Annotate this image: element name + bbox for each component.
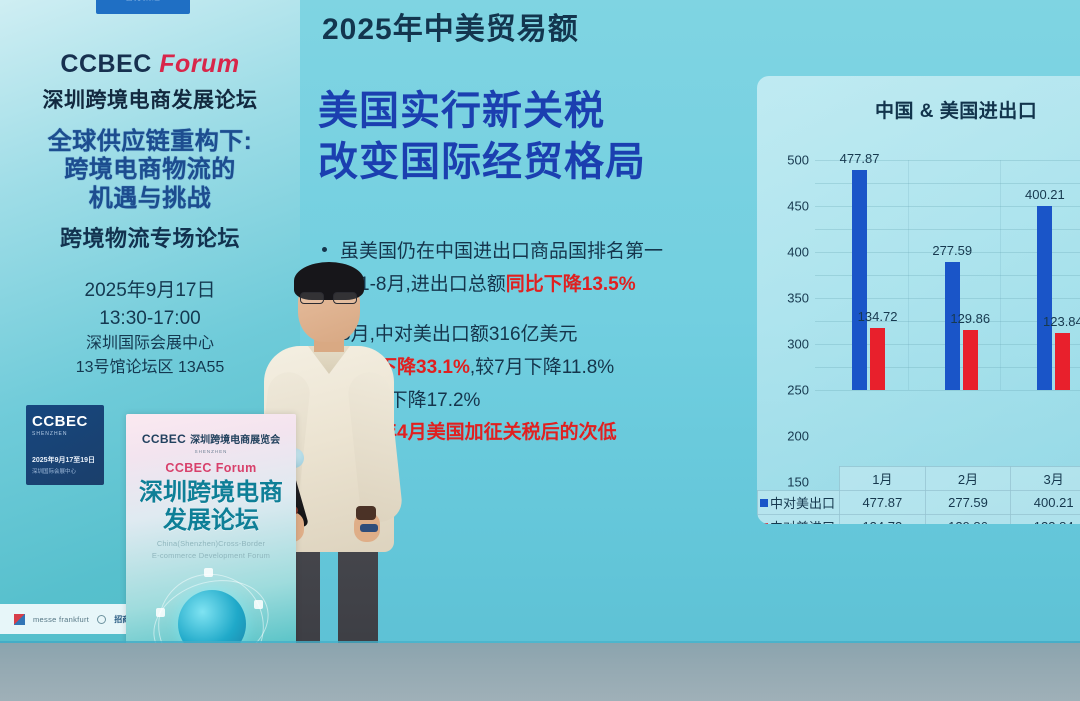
series-swatch-export-icon (760, 499, 768, 507)
banner-brand-ccbec: CCBEC (60, 50, 151, 78)
sponsor-name-1: messe frankfurt (33, 615, 89, 624)
podium-english-line-2: E-commerce Development Forum (126, 550, 296, 562)
cell-export-1: 277.59 (925, 491, 1011, 515)
chart-plot-area: 500450400350300250200150100500477.87134.… (815, 160, 1080, 390)
table-col-header-0: 1月 (840, 467, 926, 491)
table-col-header-2: 3月 (1011, 467, 1080, 491)
cell-import-0: 134.72 (840, 515, 926, 525)
banner-top-badge-label: 官方渠道 (96, 0, 190, 14)
slide-headline: 美国实行新关税 改变国际经贸格局 (318, 86, 646, 188)
podium-brand-sub: SHENZHEN (126, 449, 296, 454)
podium-title-line-1: 深圳跨境电商 (126, 479, 296, 507)
bullet-1-highlight: 同比下降13.5% (506, 274, 636, 295)
chart-y-tick-label: 200 (787, 429, 809, 444)
banner-secondary-title: 跨境物流专场论坛 (0, 221, 300, 253)
chart-y-tick-label: 500 (787, 153, 809, 168)
bullet-2-line-2-plain: ,较7月下降11.8% (470, 357, 614, 378)
presenter-clicker-icon (356, 506, 376, 520)
chart-data-label: 134.72 (858, 309, 898, 324)
series-swatch-import-icon (760, 523, 768, 524)
chart-data-table: 1月 2月 3月 中对美出口 477.87 277.59 400.21 中对美进… (757, 466, 1080, 524)
cell-export-0: 477.87 (840, 491, 926, 515)
chart-bar-import (870, 328, 885, 390)
chart-data-label: 129.86 (950, 311, 990, 326)
cell-export-2: 400.21 (1011, 491, 1080, 515)
card-logo-sub: SHENZHEN (32, 431, 98, 437)
table-row-import: 中对美进口 134.72 129.86 123.84 (758, 515, 1080, 525)
podium-english-line-1: China(Shenzhen)Cross-Border (126, 538, 296, 550)
table-rowhead-export: 中对美出口 (758, 491, 840, 515)
slide-headline-line-2: 改变国际经贸格局 (318, 137, 646, 188)
banner-ccbec-card: CCBEC SHENZHEN 2025年9月17至19日 深圳国际会展中心 (26, 405, 104, 485)
chart-vgridline (908, 160, 909, 390)
cell-import-2: 123.84 (1011, 515, 1080, 525)
conference-photo-scene: 官方渠道 CCBEC Forum 深圳跨境电商发展论坛 全球供应链重构下: 跨境… (0, 0, 1080, 701)
wristwatch-icon (360, 524, 378, 532)
chart-data-label: 477.87 (840, 151, 880, 166)
podium-title-line-2: 发展论坛 (126, 507, 296, 535)
chart-y-tick-label: 400 (787, 245, 809, 260)
podium-title: 深圳跨境电商 发展论坛 (126, 479, 296, 535)
series-name-import: 中对美进口 (770, 520, 835, 524)
banner-title-line-2: 跨境电商物流的 (0, 156, 300, 184)
chart-bar-import (1055, 333, 1070, 390)
slide-kicker: 2025年中美贸易额 (322, 4, 579, 48)
card-date: 2025年9月17至19日 (32, 455, 98, 465)
banner-main-title: 全球供应链重构下: 跨境电商物流的 机遇与挑战 (0, 128, 300, 213)
table-row-export: 中对美出口 477.87 277.59 400.21 (758, 491, 1080, 515)
banner-brand-line: CCBEC Forum (0, 50, 300, 79)
podium-brand-ccbec: CCBEC (142, 432, 186, 446)
stage-floor (0, 643, 1080, 701)
banner-brand-forum: Forum (159, 50, 239, 78)
slide-headline-line-1: 美国实行新关税 (318, 86, 646, 137)
chart-y-tick-label: 250 (787, 383, 809, 398)
table-rowhead-import: 中对美进口 (758, 515, 840, 525)
chart-bar-export (1037, 206, 1052, 390)
messe-frankfurt-logo-icon (14, 614, 25, 625)
banner-title-line-3: 机遇与挑战 (0, 185, 300, 213)
bullet-dot-icon (322, 247, 327, 252)
series-name-export: 中对美出口 (770, 496, 835, 511)
chart-gridline: 0 (815, 390, 1080, 391)
podium-forum-label: CCBEC Forum (126, 461, 296, 475)
chart-y-tick-label: 350 (787, 291, 809, 306)
cell-import-1: 129.86 (925, 515, 1011, 525)
podium-english-title: China(Shenzhen)Cross-Border E-commerce D… (126, 538, 296, 562)
banner-title-line-1: 全球供应链重构下: (0, 128, 300, 156)
chart-bar-export (852, 170, 867, 390)
chart-panel: 中国 & 美国进出口 50045040035030025020015010050… (757, 76, 1080, 524)
table-row-header: 1月 2月 3月 (758, 467, 1080, 491)
podium-brand-text: 深圳跨境电商展览会 (190, 435, 280, 446)
chart-title: 中国 & 美国进出口 (875, 96, 1037, 123)
card-venue: 深圳国际会展中心 (32, 467, 98, 475)
card-logo: CCBEC (32, 413, 98, 430)
banner-top-badge: 官方渠道 (96, 0, 190, 14)
chart-data-label: 400.21 (1025, 187, 1065, 202)
chart-bar-import (963, 330, 978, 390)
chart-vgridline (1000, 160, 1001, 390)
chart-data-label: 123.84 (1043, 314, 1080, 329)
chart-data-label: 277.59 (932, 243, 972, 258)
podium-top-brand: CCBEC深圳跨境电商展览会 SHENZHEN (126, 430, 296, 454)
banner-subtitle: 深圳跨境电商发展论坛 (0, 84, 300, 114)
chart-y-tick-label: 300 (787, 337, 809, 352)
table-corner-cell (758, 467, 840, 491)
cmgroup-logo-icon (97, 615, 106, 624)
chart-y-tick-label: 450 (787, 199, 809, 214)
glasses-icon (300, 292, 357, 305)
table-col-header-1: 2月 (925, 467, 1011, 491)
